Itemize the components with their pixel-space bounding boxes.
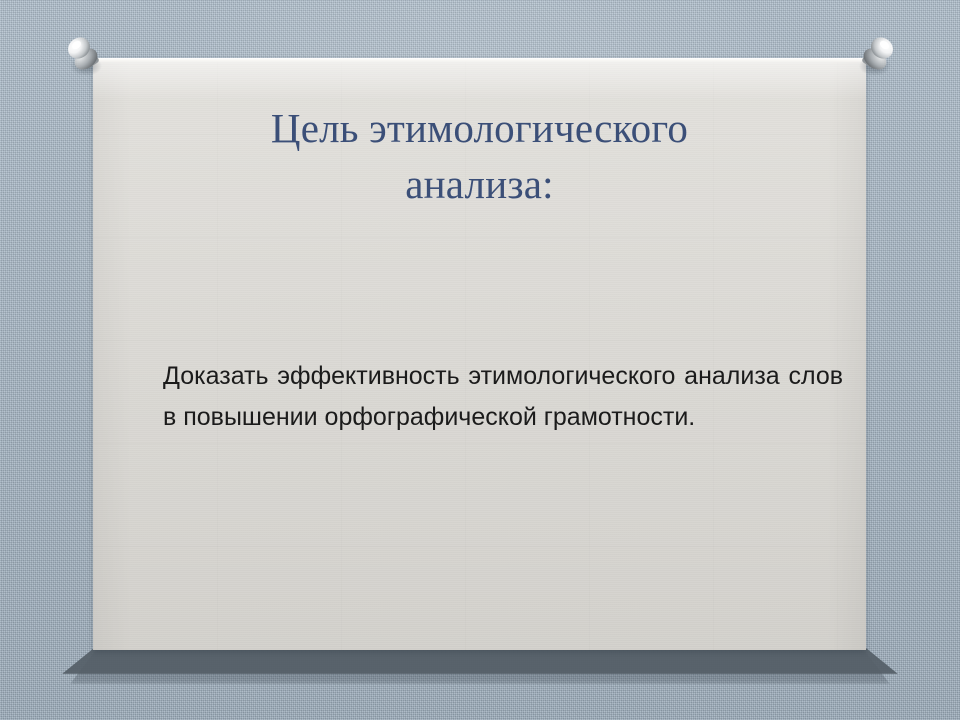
card-top-edge-highlight [93,58,866,63]
top-right-pushpin-icon [849,28,905,84]
presentation-slide: Цель этимологического анализа: Доказать … [0,0,960,720]
slide-body-text: Доказать эффективность этимологического … [163,356,843,437]
slide-title-line-2: анализа: [133,156,826,212]
slide-title: Цель этимологического анализа: [133,100,826,212]
top-left-pushpin-icon [56,28,112,84]
slide-card: Цель этимологического анализа: Доказать … [93,58,866,650]
card-drop-shadow [62,648,898,674]
slide-title-line-1: Цель этимологического [133,100,826,156]
